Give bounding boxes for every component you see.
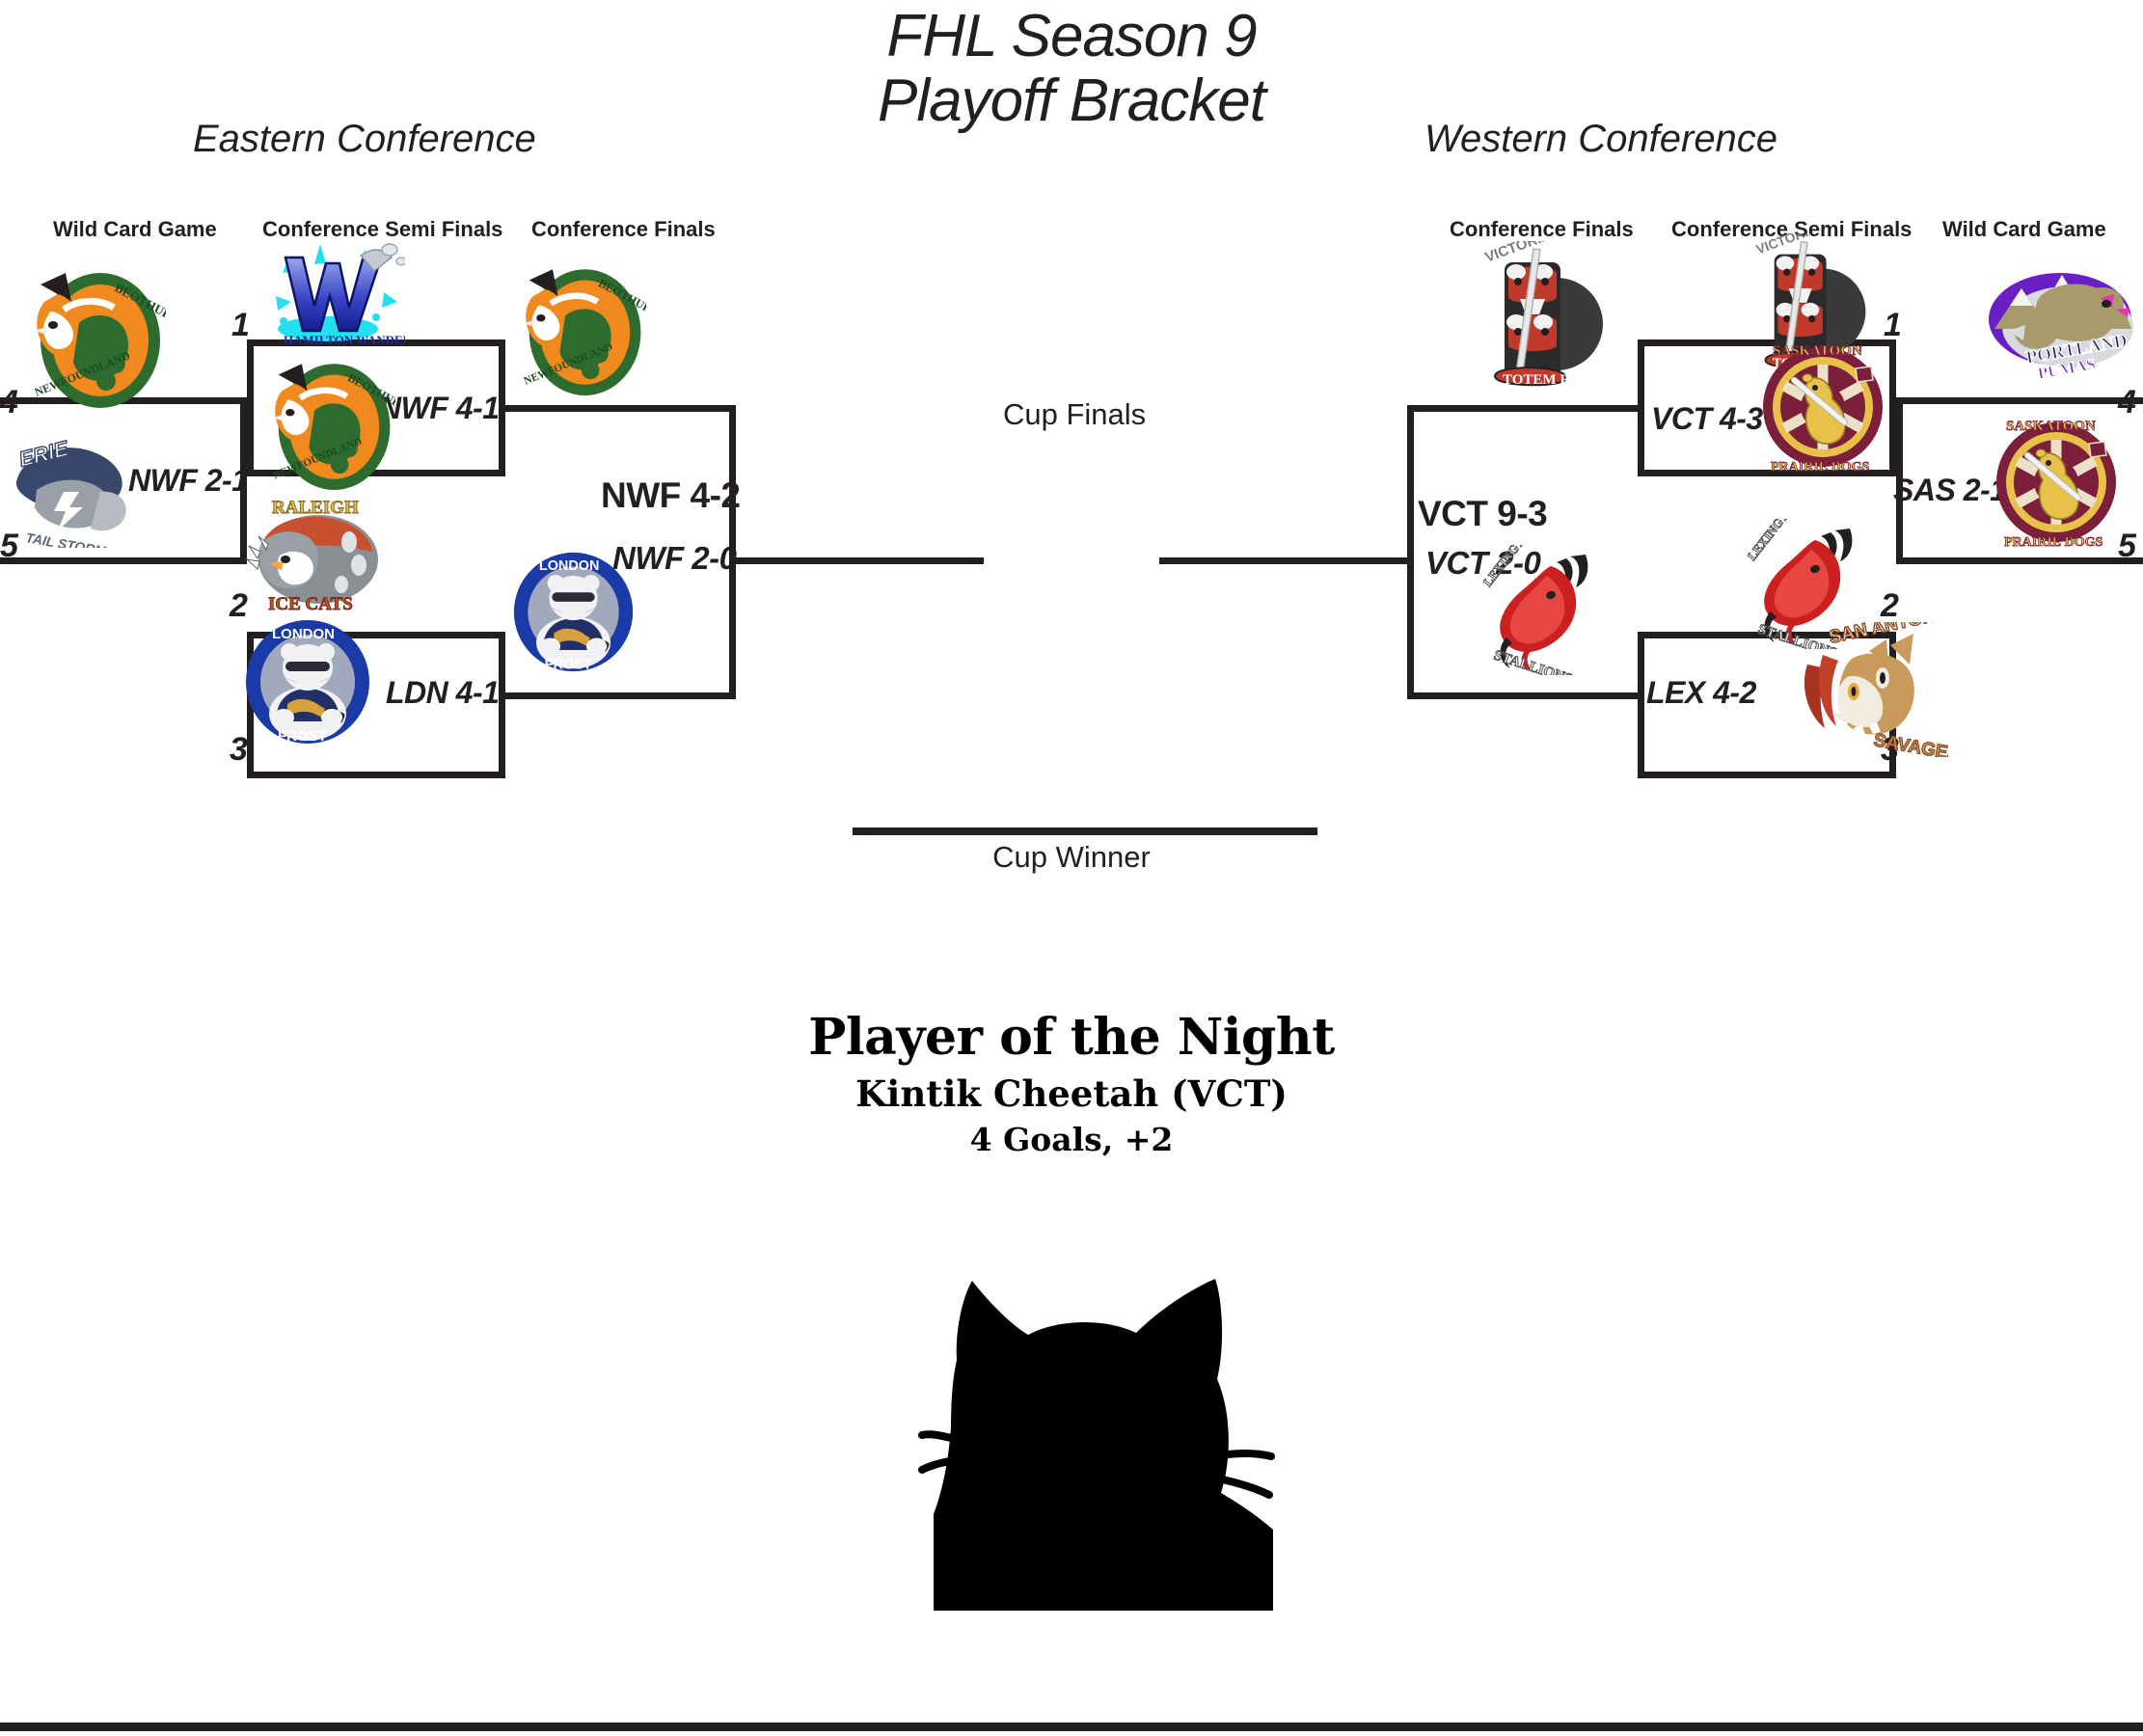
svg-text:HAMILTON WANDERERS: HAMILTON WANDERERS [284,333,405,347]
logo-newfoundland-beothuks-semi: BEOTHUKS NEWFOUNDLAND [260,347,395,497]
logo-san-antonio-savages: SAN ANTONIO SAVAGES [1794,622,1948,757]
east-round-label-wild-card: Wild Card Game [53,217,217,242]
west-semi-bottom-result: LEX 4-2 [1646,675,1756,711]
east-semi-bottom-bottom-line [247,772,505,778]
east-round-label-conference-finals: Conference Finals [531,217,716,242]
east-semi-top-left-line [247,339,254,476]
cup-finals-label: Cup Finals [1003,397,1146,432]
title-line-1: FHL Season 9 [886,3,1256,69]
west-final-left-line [1407,405,1414,699]
west-round-label-wild-card: Wild Card Game [1942,217,2106,242]
svg-text:PRAIRIE DOGS: PRAIRIE DOGS [2004,535,2103,550]
logo-victoria-totem-poles-final: TOTEM POLES VICTORIA [1474,241,1609,410]
logo-portland-pumas: PORTLAND PUMAS [1987,256,2133,386]
svg-text:LEXINGTON: LEXINGTON [1748,519,1804,563]
east-final-result: NWF 4-2 [601,475,741,516]
east-to-cup-finals-line [729,557,984,564]
west-to-cup-finals-line [1159,557,1414,564]
west-final-result: VCT 9-3 [1418,494,1547,534]
svg-text:FROST: FROST [545,657,592,672]
player-of-the-night-section: Player of the Night Kintik Cheetah (VCT)… [0,1008,2143,1158]
svg-text:VICTORIA: VICTORIA [1754,233,1820,257]
west-seed-2: 2 [1881,587,1899,625]
logo-lexington-stallions-final: LEXINGTON STALLIONS [1483,545,1618,675]
logo-newfoundland-beothuks: BEOTHUKS NEWFOUNDLAND [21,256,166,415]
svg-text:FROST: FROST [278,728,327,745]
west-round-label-conference-finals: Conference Finals [1450,217,1634,242]
page-title: FHL Season 9 Playoff Bracket [0,5,2143,134]
player-of-the-night-stats: 4 Goals, +2 [0,1121,2143,1158]
player-of-the-night-name: Kintik Cheetah (VCT) [0,1072,2143,1115]
west-semi-bottom-bottom-line [1638,772,1896,778]
logo-london-frost-semi: LONDON FROST [243,617,373,747]
svg-text:SASKATOON: SASKATOON [2006,419,2096,434]
cup-winner-rule [853,827,1317,835]
eastern-conference-title: Eastern Conference [193,118,536,161]
east-final-top-line [499,405,736,412]
west-semi-bottom-left-line [1638,632,1644,778]
west-semi-top-right-line [1889,339,1896,476]
east-wildcard-result: NWF 2-1 [128,463,249,499]
logo-erie-tail-storm: ERIE TAIL STORM [8,432,145,548]
east-semi-bottom-right-line [499,632,505,778]
east-seed-1: 1 [231,307,250,344]
svg-text:TOTEM POLES: TOTEM POLES [1503,372,1608,388]
logo-hamilton-wanderers: HAMILTON WANDERERS [260,236,405,352]
west-final-bottom-line [1407,692,1644,699]
logo-saskatoon-prairie-dogs-wildcard: SASKATOON PRAIRIE DOGS [1989,413,2124,553]
cat-silhouette-icon [897,1263,1292,1611]
west-wildcard-bottom-line [1896,557,2143,564]
svg-text:PRAIRIE DOGS: PRAIRIE DOGS [1771,460,1870,475]
east-semi-top-result: NWF 4-1 [379,391,500,426]
svg-text:SASKATOON: SASKATOON [1773,343,1862,359]
svg-text:VICTORIA: VICTORIA [1483,241,1554,266]
svg-text:LONDON: LONDON [272,626,335,642]
west-wildcard-top-line [1896,397,2143,404]
svg-text:TAIL STORM: TAIL STORM [24,529,107,548]
east-wildcard-bottom-line [0,557,247,564]
svg-text:RALEIGH: RALEIGH [272,498,359,518]
svg-text:ICE CATS: ICE CATS [268,594,353,614]
east-seed-4: 4 [0,384,18,421]
svg-text:STALLIONS: STALLIONS [1492,648,1575,675]
svg-text:LONDON: LONDON [539,558,600,574]
svg-text:LEXINGTON: LEXINGTON [1483,545,1539,589]
western-conference-title: Western Conference [1424,118,1777,161]
svg-text:SAN ANTONIO: SAN ANTONIO [1828,622,1948,648]
logo-raleigh-ice-cats: RALEIGH ICE CATS [241,492,386,617]
logo-newfoundland-beothuks-final: BEOTHUKS NEWFOUNDLAND [511,253,646,402]
svg-text:SAVAGES: SAVAGES [1872,730,1948,757]
east-semi-bottom-result: LDN 4-1 [386,675,499,711]
player-of-the-night-heading: Player of the Night [0,1008,2143,1067]
logo-saskatoon-prairie-dogs-semi: SASKATOON PRAIRIE DOGS [1755,338,1890,477]
east-final-bottom-line [499,692,736,699]
cup-winner-label: Cup Winner [0,840,2143,875]
bottom-rule [0,1722,2143,1731]
west-semi-top-result: VCT 4-3 [1651,401,1763,437]
logo-london-frost-final: LONDON FROST [511,550,637,675]
